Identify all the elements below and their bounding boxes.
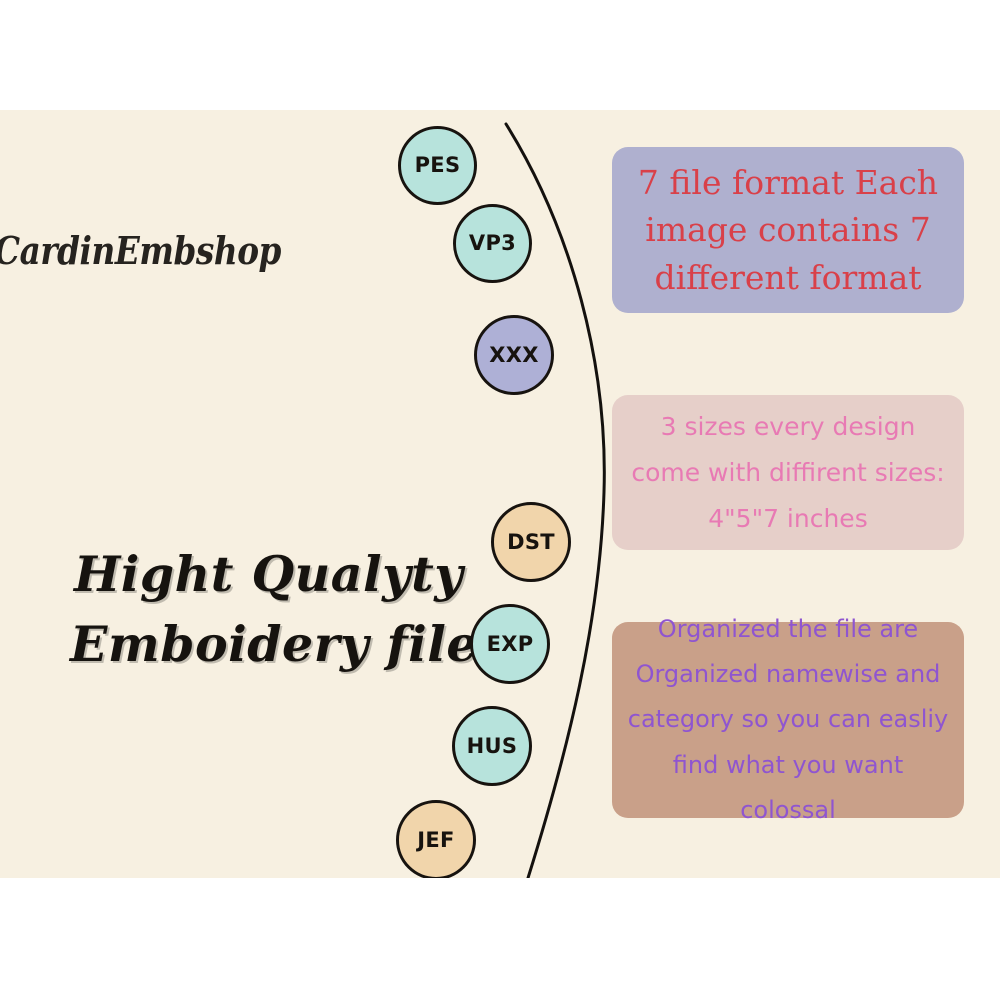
format-bubble-vp3[interactable]: VP3 [453,204,532,283]
format-bubble-label: JEF [417,830,454,851]
format-bubble-label: EXP [487,634,534,655]
feature-card-formats: 7 file format Each image contains 7 diff… [612,147,964,313]
format-bubble-hus[interactable]: HUS [452,706,532,786]
feature-card-organized: Organized the file are Organized namewis… [612,622,964,818]
feature-card-sizes: 3 sizes every design come with diffirent… [612,395,964,550]
format-bubble-exp[interactable]: EXP [470,604,550,684]
format-bubble-pes[interactable]: PES [398,126,477,205]
format-bubble-xxx[interactable]: XXX [474,315,554,395]
feature-card-sizes-text: 3 sizes every design come with diffirent… [612,404,964,542]
headline-line-2: Emboidery file [70,610,500,680]
format-bubble-label: HUS [467,736,518,757]
feature-card-formats-text: 7 file format Each image contains 7 diff… [612,159,964,302]
format-bubble-label: DST [507,532,555,553]
format-bubble-label: XXX [489,345,538,366]
format-bubble-label: PES [415,155,461,176]
page-title: Hight Qualyty Emboidery file [70,540,500,679]
feature-card-organized-text: Organized the file are Organized namewis… [612,607,964,833]
format-bubble-jef[interactable]: JEF [396,800,476,878]
format-bubble-dst[interactable]: DST [491,502,571,582]
format-bubble-label: VP3 [469,233,516,254]
shop-logo: CardinEmbshop [0,228,281,273]
listing-image: CardinEmbshop Hight Qualyty Emboidery fi… [0,0,1000,1000]
headline-line-1: Hight Qualyty [70,540,500,610]
cream-panel: CardinEmbshop Hight Qualyty Emboidery fi… [0,110,1000,878]
